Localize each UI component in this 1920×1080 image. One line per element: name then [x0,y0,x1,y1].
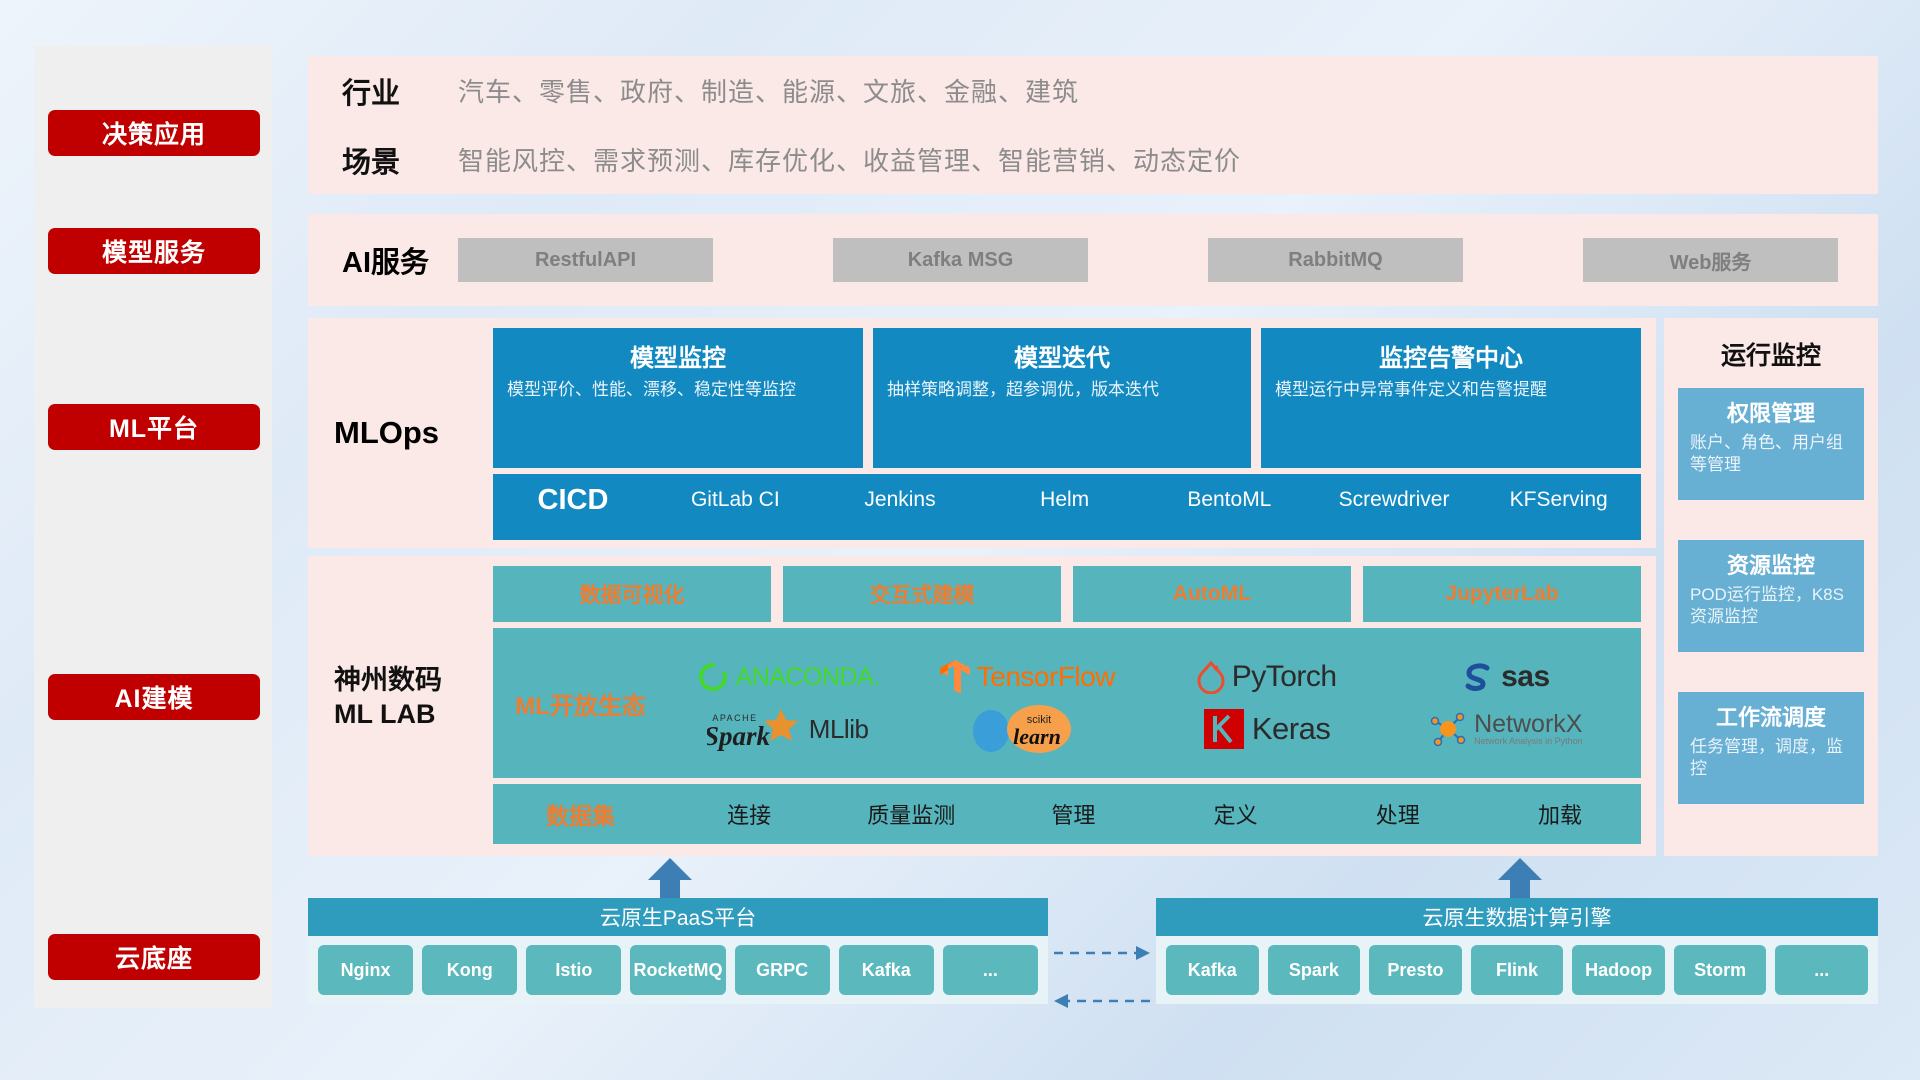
pytorch-logo: PyTorch [1147,660,1386,694]
dataset-item-manage[interactable]: 管理 [992,798,1154,830]
chip-rocketmq[interactable]: RocketMQ [630,945,725,995]
mllab-label-line1: 神州数码 [334,664,494,698]
mlops-label: MLOps [334,318,494,548]
card-title: 模型监控 [507,338,849,373]
card-desc: 模型评价、性能、漂移、稳定性等监控 [507,379,849,401]
bidirectional-connector [1050,935,1155,1025]
ai-service-buttons: RestfulAPI Kafka MSG RabbitMQ Web服务 [458,238,1878,282]
svg-text:learn: learn [1013,724,1061,749]
pytorch-icon [1196,660,1226,694]
card-desc: 账户、角色、用户组等管理 [1690,432,1852,476]
anaconda-label: ANACONDA. [736,663,880,692]
tab-automl[interactable]: AutoML [1073,566,1351,622]
tensorflow-label: TensorFlow [977,661,1115,693]
scikit-learn-logo: scikit learn [907,703,1146,755]
card-title: 模型迭代 [887,338,1237,373]
monitoring-card-permission[interactable]: 权限管理 账户、角色、用户组等管理 [1678,388,1864,500]
cicd-item-jenkins[interactable]: Jenkins [818,484,983,512]
layer-chip-ai-modeling[interactable]: AI建模 [48,674,260,720]
chip-nginx[interactable]: Nginx [318,945,413,995]
mlops-panel: MLOps 模型监控 模型评价、性能、漂移、稳定性等监控 模型迭代 抽样策略调整… [308,318,1656,548]
mllab-tabs: 数据可视化 交互式建模 AutoML JupyterLab [493,566,1641,622]
cloud-data-engine-chips: Kafka Spark Presto Flink Hadoop Storm ..… [1156,936,1878,1004]
pytorch-label: PyTorch [1232,660,1337,694]
chip-spark[interactable]: Spark [1268,945,1361,995]
cicd-item-gitlab-ci[interactable]: GitLab CI [653,484,818,512]
tensorflow-icon [939,659,971,695]
card-title: 权限管理 [1690,396,1852,428]
mlops-card-alert-center[interactable]: 监控告警中心 模型运行中异常事件定义和告警提醒 [1261,328,1641,468]
card-desc: POD运行监控，K8S资源监控 [1690,584,1852,628]
industry-row: 行业 汽车、零售、政府、制造、能源、文旅、金融、建筑 [308,56,1878,125]
card-title: 监控告警中心 [1275,338,1627,373]
layer-chip-decision[interactable]: 决策应用 [48,110,260,156]
chip-kong[interactable]: Kong [422,945,517,995]
layer-chip-cloud-base[interactable]: 云底座 [48,934,260,980]
eco-label: ML开放生态 [493,686,668,721]
dataset-item-quality[interactable]: 质量监测 [830,798,992,830]
tab-data-visualization[interactable]: 数据可视化 [493,566,771,622]
anaconda-logo: ANACONDA. [668,660,907,694]
card-desc: 模型运行中异常事件定义和告警提醒 [1275,379,1627,401]
networkx-logo: NetworkX Network Analysis in Python [1386,709,1625,749]
chip-grpc[interactable]: GRPC [735,945,830,995]
keras-logo: Keras [1147,707,1386,751]
cloud-paas-title: 云原生PaaS平台 [308,898,1048,936]
layer-chip-label: AI建模 [114,679,193,715]
chip-kafka[interactable]: Kafka [1166,945,1259,995]
layer-chip-label: 决策应用 [102,115,206,151]
chip-more[interactable]: ... [943,945,1038,995]
layer-chip-ml-platform[interactable]: ML平台 [48,404,260,450]
mllab-ecosystem: ML开放生态 ANACONDA. TensorFlow [493,628,1641,778]
scikit-learn-icon: scikit learn [967,703,1087,755]
mlops-card-model-monitor[interactable]: 模型监控 模型评价、性能、漂移、稳定性等监控 [493,328,863,468]
layer-chip-label: 模型服务 [102,233,206,269]
architecture-diagram: 决策应用 模型服务 ML平台 AI建模 云底座 行业 汽车、零售、政府、制造、能… [0,0,1920,1080]
card-desc: 任务管理，调度，监控 [1690,736,1852,780]
networkx-icon [1428,709,1468,749]
chip-flink[interactable]: Flink [1471,945,1564,995]
chip-kafka[interactable]: Kafka [839,945,934,995]
ai-service-button-web[interactable]: Web服务 [1583,238,1838,282]
tab-interactive-modeling[interactable]: 交互式建模 [783,566,1061,622]
cloud-data-engine-title: 云原生数据计算引擎 [1156,898,1878,936]
mllab-label-line2: ML LAB [334,698,494,732]
ai-service-button-rabbitmq[interactable]: RabbitMQ [1208,238,1463,282]
tab-jupyterlab[interactable]: JupyterLab [1363,566,1641,622]
anaconda-icon [696,660,730,694]
cicd-item-helm[interactable]: Helm [982,484,1147,512]
ai-service-label: AI服务 [308,239,458,281]
cloud-paas-chips: Nginx Kong Istio RocketMQ GRPC Kafka ... [308,936,1048,1004]
arrow-up-data-engine [1490,858,1550,900]
sas-label: sas [1501,660,1550,694]
card-title: 工作流调度 [1690,700,1852,732]
dataset-row: 数据集 连接 质量监测 管理 定义 处理 加载 [493,784,1641,844]
scenario-label: 场景 [308,139,458,181]
chip-more[interactable]: ... [1775,945,1868,995]
networkx-sublabel: Network Analysis in Python [1474,737,1583,746]
cloud-data-engine-block: 云原生数据计算引擎 Kafka Spark Presto Flink Hadoo… [1156,898,1878,1004]
layer-rail [34,46,272,1008]
layer-chip-model-service[interactable]: 模型服务 [48,228,260,274]
cicd-item-screwdriver[interactable]: Screwdriver [1312,484,1477,512]
dataset-item-define[interactable]: 定义 [1155,798,1317,830]
networkx-label: NetworkX [1474,712,1583,737]
dataset-item-process[interactable]: 处理 [1317,798,1479,830]
dataset-item-connect[interactable]: 连接 [668,798,830,830]
monitoring-card-workflow[interactable]: 工作流调度 任务管理，调度，监控 [1678,692,1864,804]
mllab-label: 神州数码 ML LAB [334,664,494,732]
chip-storm[interactable]: Storm [1674,945,1767,995]
cloud-paas-block: 云原生PaaS平台 Nginx Kong Istio RocketMQ GRPC… [308,898,1048,1004]
keras-label: Keras [1252,711,1330,747]
industry-label: 行业 [308,70,458,112]
scenario-value: 智能风控、需求预测、库存优化、收益管理、智能营销、动态定价 [458,141,1241,178]
sas-logo: sas [1386,660,1625,694]
ai-service-button-restfulapi[interactable]: RestfulAPI [458,238,713,282]
chip-presto[interactable]: Presto [1369,945,1462,995]
dataset-item-load[interactable]: 加载 [1479,798,1641,830]
layer-chip-label: ML平台 [109,409,199,445]
sas-icon [1461,660,1495,694]
spark-mllib-logo: APACHE Spark MLlib [668,707,907,751]
arrow-up-paas [640,858,700,900]
card-desc: 抽样策略调整，超参调优，版本迭代 [887,379,1237,401]
chip-hadoop[interactable]: Hadoop [1572,945,1665,995]
cicd-item-kfserving[interactable]: KFServing [1476,484,1641,512]
tensorflow-logo: TensorFlow [907,659,1146,695]
dataset-label: 数据集 [493,797,668,831]
monitoring-card-resource[interactable]: 资源监控 POD运行监控，K8S资源监控 [1678,540,1864,652]
mlops-card-model-iteration[interactable]: 模型迭代 抽样策略调整，超参调优，版本迭代 [873,328,1251,468]
cicd-label: CICD [493,484,653,517]
ai-service-button-kafka-msg[interactable]: Kafka MSG [833,238,1088,282]
chip-istio[interactable]: Istio [526,945,621,995]
cicd-item-bentoml[interactable]: BentoML [1147,484,1312,512]
cicd-row: CICD GitLab CI Jenkins Helm BentoML Scre… [493,474,1641,540]
spark-icon: APACHE Spark [707,707,803,751]
card-title: 资源监控 [1690,548,1852,580]
ai-service-panel: AI服务 RestfulAPI Kafka MSG RabbitMQ Web服务 [308,214,1878,306]
scenario-row: 场景 智能风控、需求预测、库存优化、收益管理、智能营销、动态定价 [308,125,1878,194]
monitoring-title: 运行监控 [1664,336,1878,372]
top-application-panel: 行业 汽车、零售、政府、制造、能源、文旅、金融、建筑 场景 智能风控、需求预测、… [308,56,1878,194]
mllab-panel: 神州数码 ML LAB 数据可视化 交互式建模 AutoML JupyterLa… [308,556,1656,856]
industry-value: 汽车、零售、政府、制造、能源、文旅、金融、建筑 [458,72,1079,109]
monitoring-panel: 运行监控 权限管理 账户、角色、用户组等管理 资源监控 POD运行监控，K8S资… [1664,318,1878,856]
svg-text:Spark: Spark [707,721,771,751]
mllib-label: MLlib [809,714,869,745]
layer-chip-label: 云底座 [115,939,193,975]
keras-icon [1202,707,1246,751]
